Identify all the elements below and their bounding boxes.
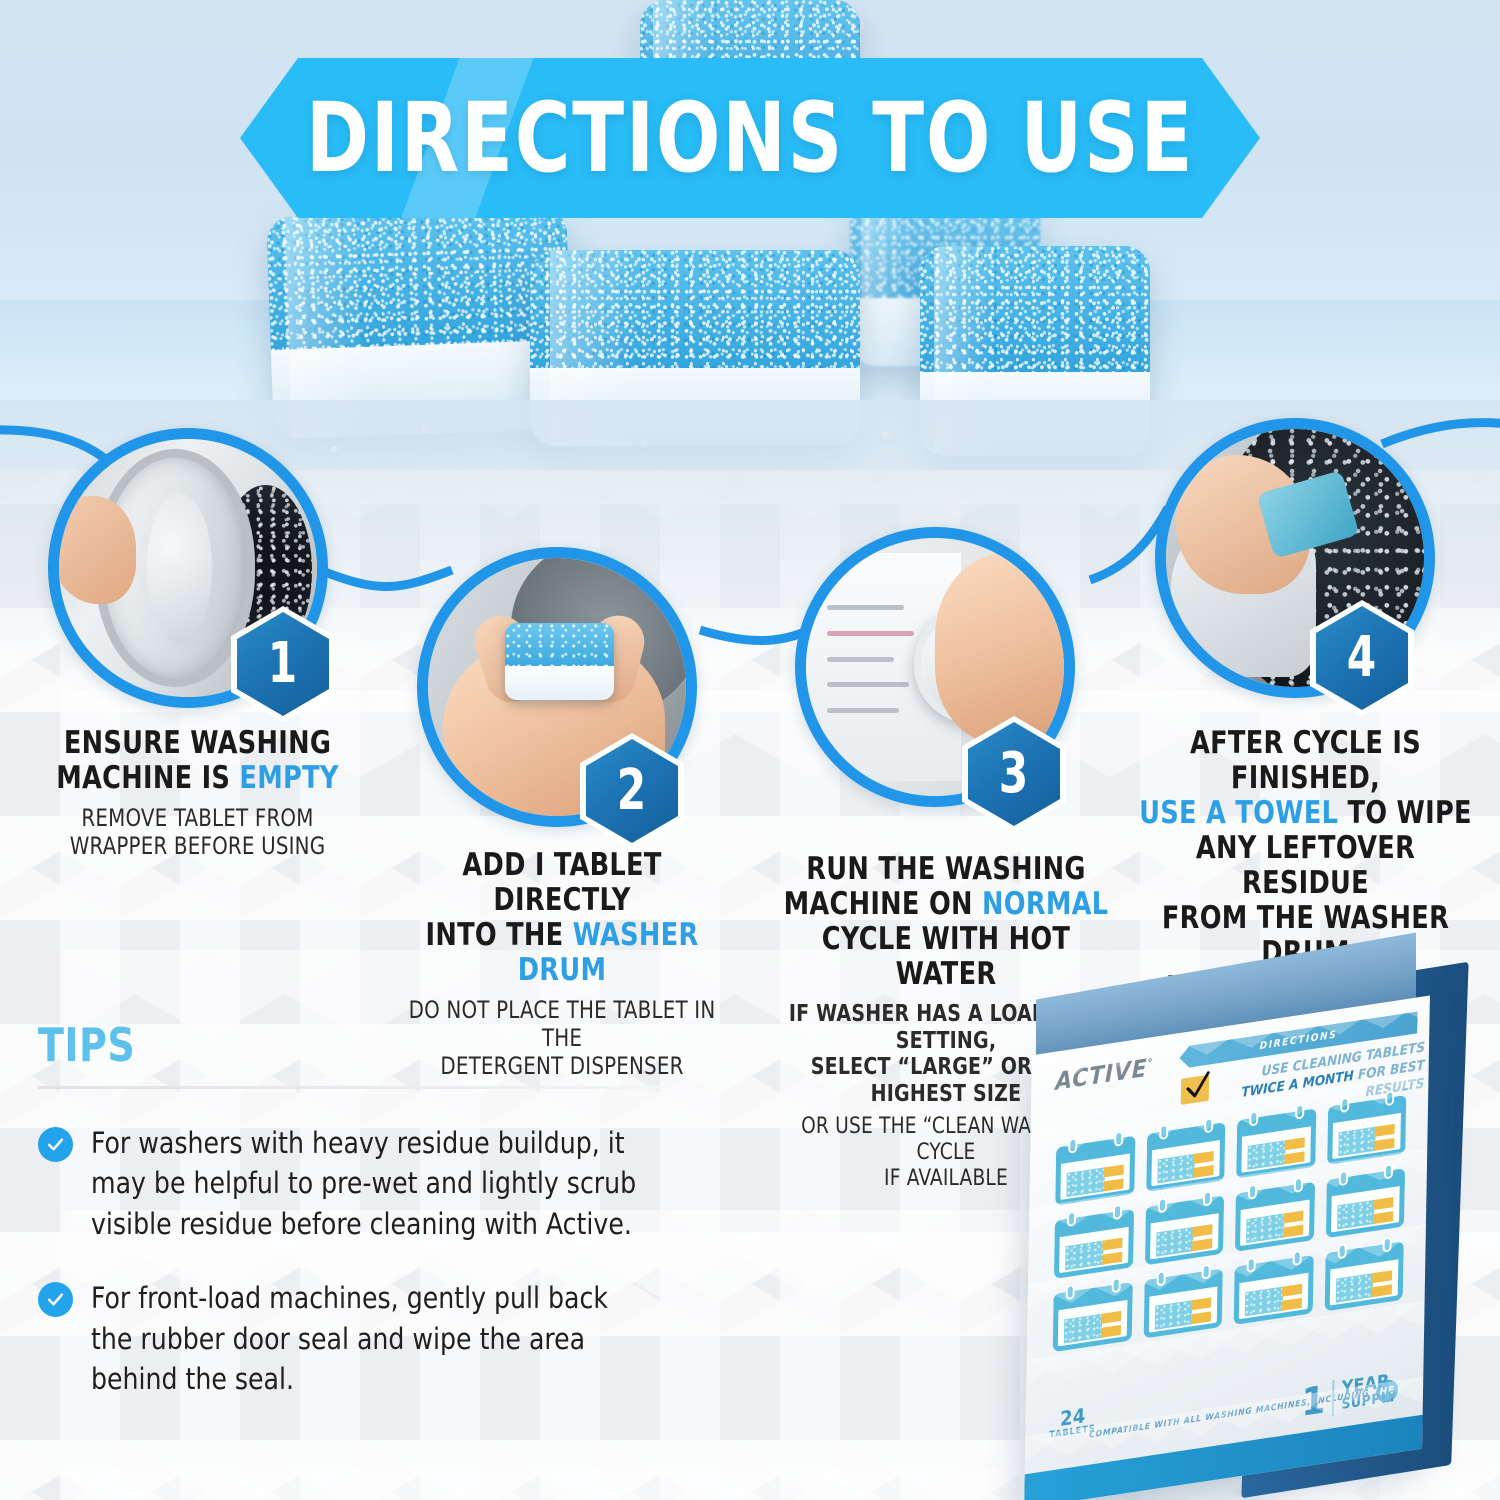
step-1-subtext: REMOVE TABLET FROM WRAPPER BEFORE USING [34,805,361,861]
title-banner: DIRECTIONS TO USE [240,58,1260,218]
page-title: DIRECTIONS TO USE [301,58,1199,218]
calendar-icon [1144,1195,1224,1265]
brand-logo: ACTIVE° [1055,1053,1153,1096]
infographic-canvas: DIRECTIONS TO USE 1 ENSURE WASHING MACHI… [0,0,1500,1500]
calendar-icon [1234,1255,1314,1325]
step-1-text: ENSURE WASHING MACHINE IS EMPTY REMOVE T… [20,726,375,861]
tablet-in-hand [505,623,613,700]
tips-divider [38,1086,662,1089]
calendar-icon [1146,1122,1226,1192]
supply-divider [1332,1380,1335,1416]
calendar-icon [1053,1282,1133,1352]
calendar-icon [1236,1109,1316,1179]
tip-text: For front-load machines, gently pull bac… [91,1278,642,1399]
tip-item: For front-load machines, gently pull bac… [38,1278,698,1399]
step-2-heading: ADD I TABLET DIRECTLY INTO THE WASHER DR… [393,848,732,988]
box-front-panel: ACTIVE° DIRECTIONS USE CLEANING TABLETS … [1024,996,1430,1500]
step-2-number: 2 [617,763,646,819]
calendar-icon [1055,1136,1135,1206]
step-1-heading: ENSURE WASHING MACHINE IS EMPTY [34,726,361,796]
supply-badge: 1 YEAR SUPPLY [1301,1370,1397,1420]
tip-item: For washers with heavy residue buildup, … [38,1123,698,1244]
tips-section: TIPS For washers with heavy residue buil… [38,1018,698,1399]
product-box-photo: ACTIVE° DIRECTIONS USE CLEANING TABLETS … [950,970,1500,1500]
calendar-icon [1324,1242,1404,1312]
check-icon [38,1282,73,1317]
tips-title: TIPS [38,1018,645,1072]
calendar-icon [1235,1182,1315,1252]
calendar-icon [1054,1209,1134,1279]
step-3-number: 3 [999,746,1028,802]
checkbox-icon [1181,1075,1209,1105]
calendar-icon [1143,1269,1223,1339]
calendar-icon [1325,1168,1405,1238]
tip-text: For washers with heavy residue buildup, … [91,1123,642,1244]
check-icon [38,1127,73,1162]
step-4-number: 4 [1347,630,1376,686]
hand-detail [935,553,1064,744]
hand-detail [59,496,136,604]
calendar-grid [1053,1095,1407,1352]
step-1-number: 1 [268,636,297,692]
calendar-icon [1327,1095,1407,1165]
